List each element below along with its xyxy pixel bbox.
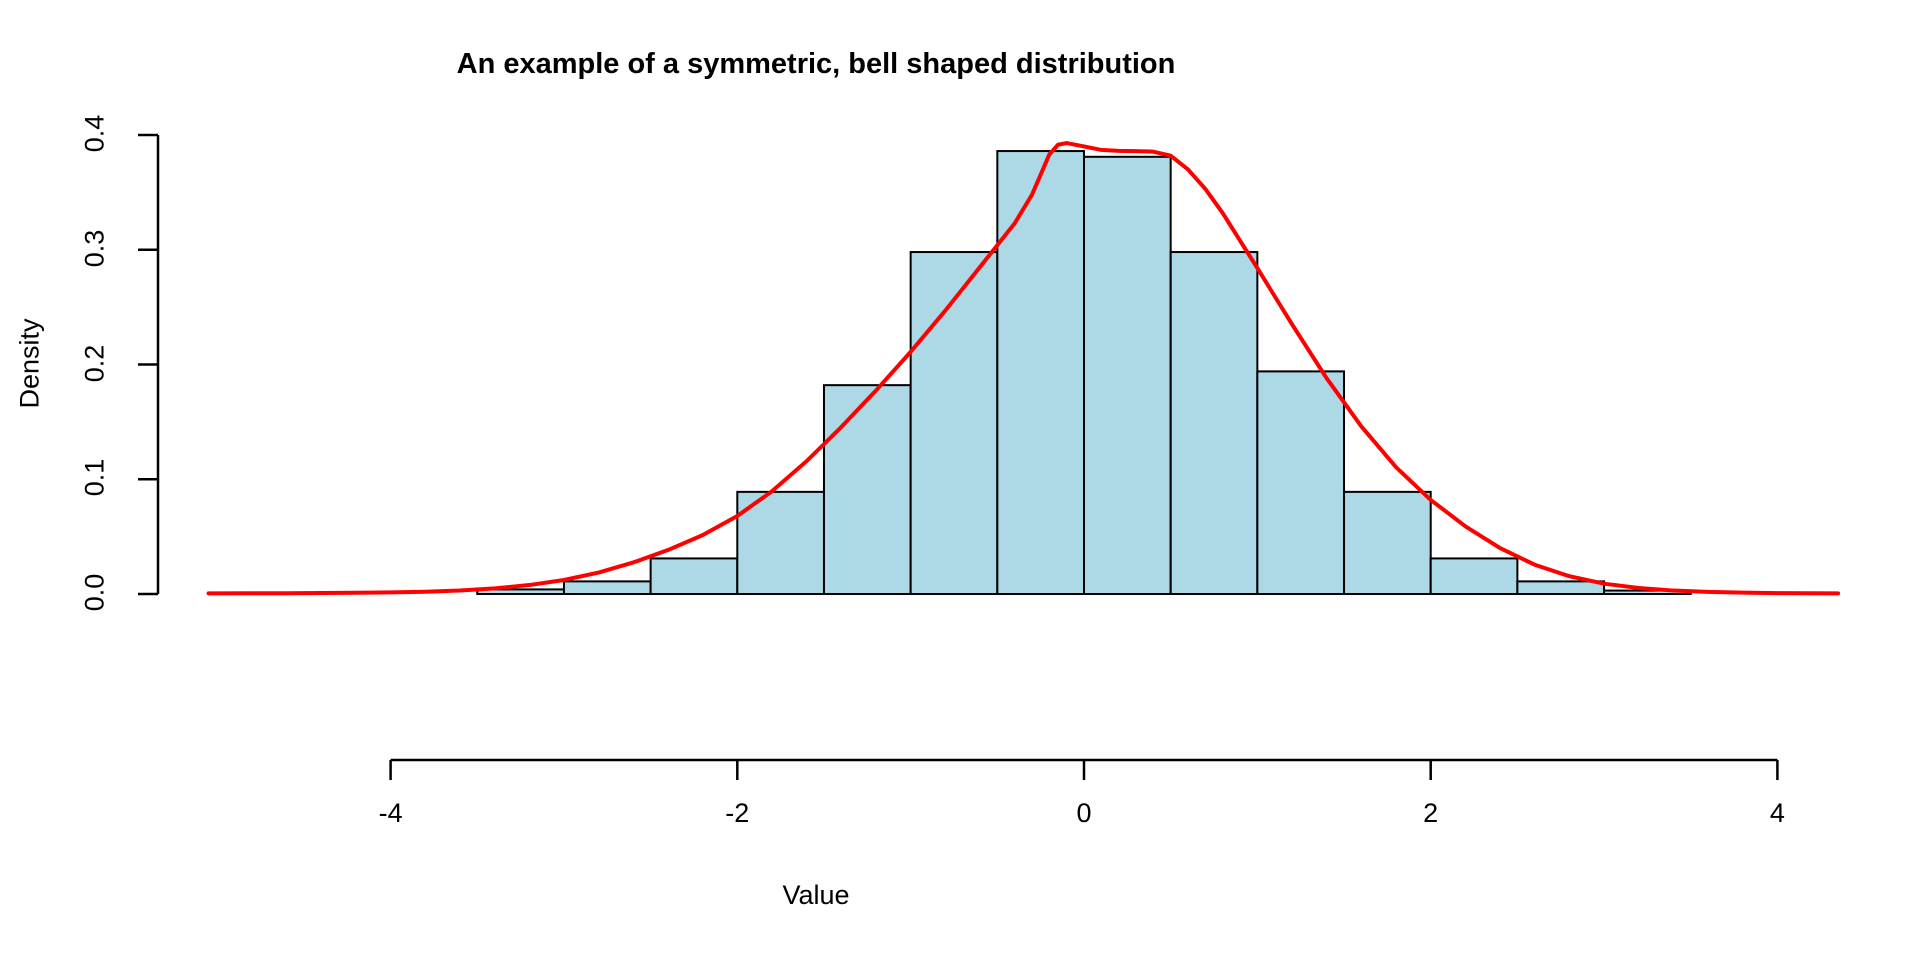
x-axis-tick-label: -4 bbox=[351, 798, 431, 829]
y-axis-title: Density bbox=[15, 263, 46, 463]
histogram-bar bbox=[1517, 581, 1604, 594]
x-axis-title: Value bbox=[0, 880, 1632, 911]
histogram-bar bbox=[564, 581, 651, 594]
histogram-bar bbox=[1084, 157, 1171, 594]
histogram-plot-figure: An example of a symmetric, bell shaped d… bbox=[0, 0, 1920, 960]
histogram-bar bbox=[651, 558, 738, 594]
histogram-bar bbox=[1171, 252, 1258, 594]
histogram-bar bbox=[824, 385, 911, 594]
histogram-bar bbox=[1431, 558, 1518, 594]
x-axis-tick-label: -2 bbox=[697, 798, 777, 829]
histogram-bars-group bbox=[477, 151, 1690, 594]
y-axis-tick-label: 0.0 bbox=[80, 558, 111, 628]
x-axis-tick-label: 4 bbox=[1737, 798, 1817, 829]
plot-canvas bbox=[0, 0, 1920, 960]
histogram-bar bbox=[911, 252, 998, 594]
y-axis-tick-label: 0.4 bbox=[80, 99, 111, 169]
histogram-bar bbox=[997, 151, 1084, 594]
histogram-bar bbox=[1344, 492, 1431, 594]
y-axis-tick-label: 0.2 bbox=[80, 328, 111, 398]
y-axis-tick-label: 0.1 bbox=[80, 443, 111, 513]
x-axis-tick-label: 0 bbox=[1044, 798, 1124, 829]
x-axis-tick-label: 2 bbox=[1391, 798, 1471, 829]
histogram-bar bbox=[1257, 371, 1344, 594]
y-axis-tick-label: 0.3 bbox=[80, 213, 111, 283]
